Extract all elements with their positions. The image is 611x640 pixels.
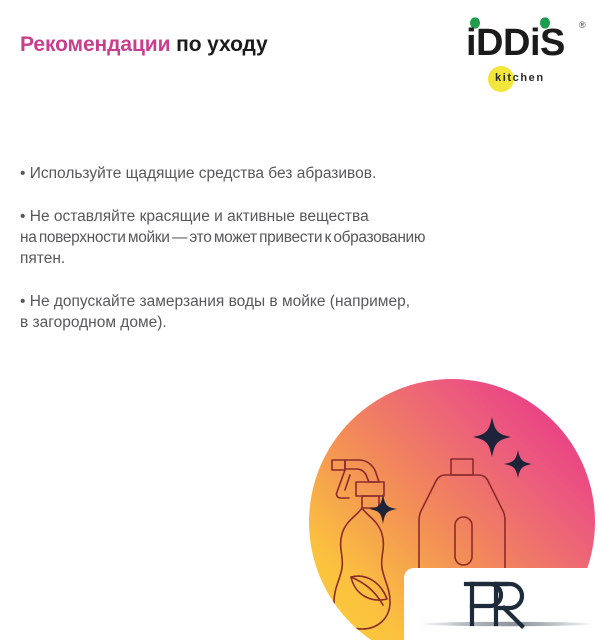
- bullet-text: Используйте щадящие средства без абразив…: [30, 165, 377, 182]
- bullet-text: Не оставляйте красящие и активные вещест…: [30, 208, 369, 225]
- page-title-accent: Рекомендации: [20, 33, 170, 56]
- bullet-marker: •: [20, 165, 25, 182]
- brand-logo: iDDiS ® kitchen: [466, 17, 596, 97]
- logo-wordmark-icon: iDDiS ®: [466, 17, 596, 59]
- watermark-reflection: [419, 622, 595, 626]
- header: Рекомендации по уходу iDDiS ® kitchen: [0, 0, 611, 110]
- bullet-line: • Не оставляйте красящие и активные веще…: [20, 206, 592, 227]
- logo-trademark-symbol: ®: [579, 20, 586, 30]
- page-title-rest: по уходу: [170, 33, 267, 56]
- bullet-marker: •: [20, 208, 25, 225]
- bullet-text: Не допускайте замерзания воды в мойке (н…: [30, 293, 410, 310]
- logo-wordmark-text: iDDiS: [466, 22, 565, 59]
- list-item: • Не допускайте замерзания воды в мойке …: [20, 291, 592, 333]
- bullet-marker: •: [20, 293, 25, 310]
- list-item: • Используйте щадящие средства без абраз…: [20, 163, 592, 184]
- page-title: Рекомендации по уходу: [20, 33, 268, 57]
- watermark-monogram-icon: [404, 568, 611, 640]
- bullet-line: в загородном доме).: [20, 312, 592, 333]
- bullet-line: • Используйте щадящие средства без абраз…: [20, 163, 592, 184]
- list-item: • Не оставляйте красящие и активные веще…: [20, 206, 592, 269]
- logo-sublabel-text: kitchen: [495, 72, 545, 84]
- bullet-line: • Не допускайте замерзания воды в мойке …: [20, 291, 592, 312]
- bullet-line: на поверхности мойки — это может привест…: [20, 227, 592, 248]
- watermark-badge: [404, 568, 611, 640]
- logo-sublabel: kitchen: [488, 65, 598, 95]
- slide-root: Рекомендации по уходу iDDiS ® kitchen • …: [0, 0, 611, 640]
- care-instructions-list: • Используйте щадящие средства без абраз…: [20, 163, 592, 333]
- bullet-line: пятен.: [20, 248, 592, 269]
